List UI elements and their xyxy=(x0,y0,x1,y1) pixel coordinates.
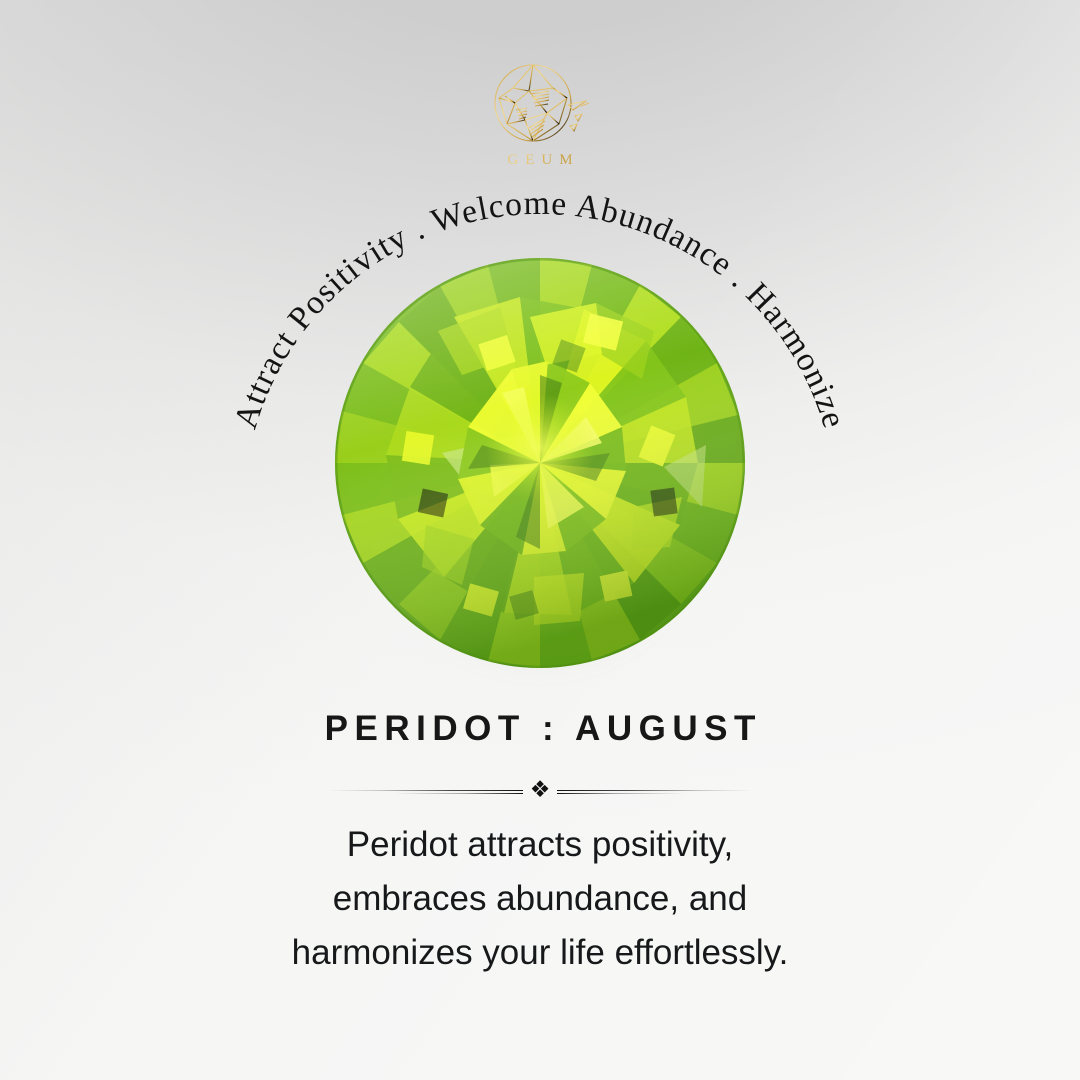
divider-rule-left xyxy=(328,788,523,795)
divider-rule-right xyxy=(557,788,752,795)
fleuron-diamond-icon: ❖ xyxy=(523,779,558,802)
description-line-3: harmonizes your life effortlessly. xyxy=(0,926,1080,980)
page-title: PERIDOT : AUGUST xyxy=(0,709,1080,749)
brand-wordmark: GEUM xyxy=(460,152,620,169)
geum-faceted-gem-logo-icon xyxy=(485,58,595,150)
description-line-2: embraces abundance, and xyxy=(0,872,1080,926)
description-text: Peridot attracts positivity, embraces ab… xyxy=(0,818,1080,980)
affirmation-arc-text: Attract Positivity . Welcome Abundance .… xyxy=(220,180,860,600)
brand-logo: GEUM xyxy=(460,58,620,169)
affirmation-arc-label: Attract Positivity . Welcome Abundance .… xyxy=(227,185,853,433)
description-line-1: Peridot attracts positivity, xyxy=(0,818,1080,872)
gemstone-info-card: GEUM xyxy=(0,0,1080,1080)
ornamental-divider: ❖ xyxy=(328,776,752,806)
